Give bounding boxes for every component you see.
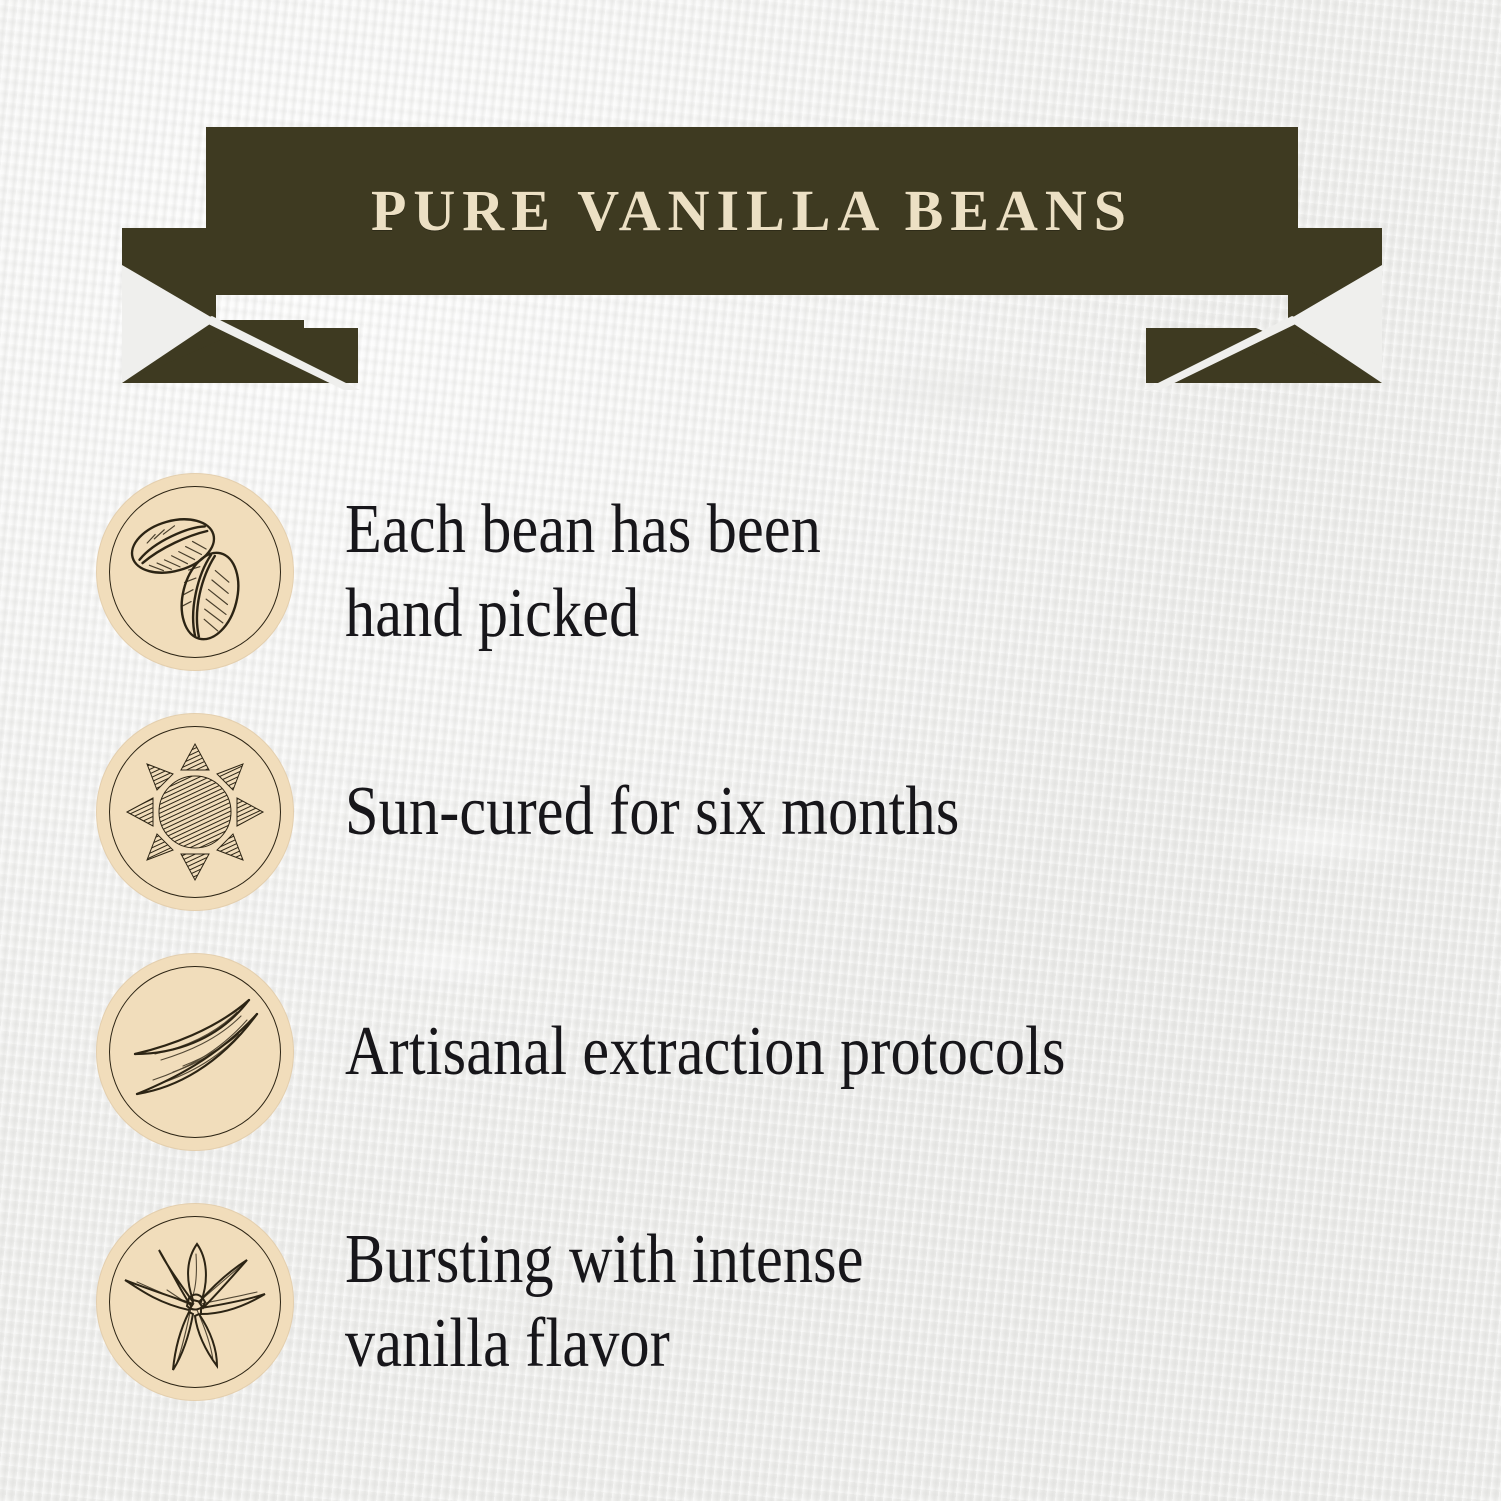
vanilla-pods-icon	[97, 954, 293, 1150]
sun-icon	[97, 714, 293, 910]
feature-label: Artisanal extraction protocols	[345, 1010, 1066, 1094]
feature-item: Sun-cured for six months	[0, 692, 1501, 932]
feature-label: Each bean has been hand picked	[345, 488, 821, 656]
feature-list: Each bean has been hand picked	[0, 452, 1501, 1432]
feature-label: Sun-cured for six months	[345, 770, 959, 854]
infographic-page: PURE VANILLA BEANS	[0, 0, 1501, 1501]
feature-item: Bursting with intense vanilla flavor	[0, 1172, 1501, 1432]
feature-label: Bursting with intense vanilla flavor	[345, 1218, 864, 1386]
vanilla-flower-icon	[97, 1204, 293, 1400]
page-title: PURE VANILLA BEANS	[108, 120, 1396, 295]
feature-item: Artisanal extraction protocols	[0, 932, 1501, 1172]
vanilla-beans-icon	[97, 474, 293, 670]
ribbon-banner: PURE VANILLA BEANS	[108, 120, 1396, 390]
feature-item: Each bean has been hand picked	[0, 452, 1501, 692]
